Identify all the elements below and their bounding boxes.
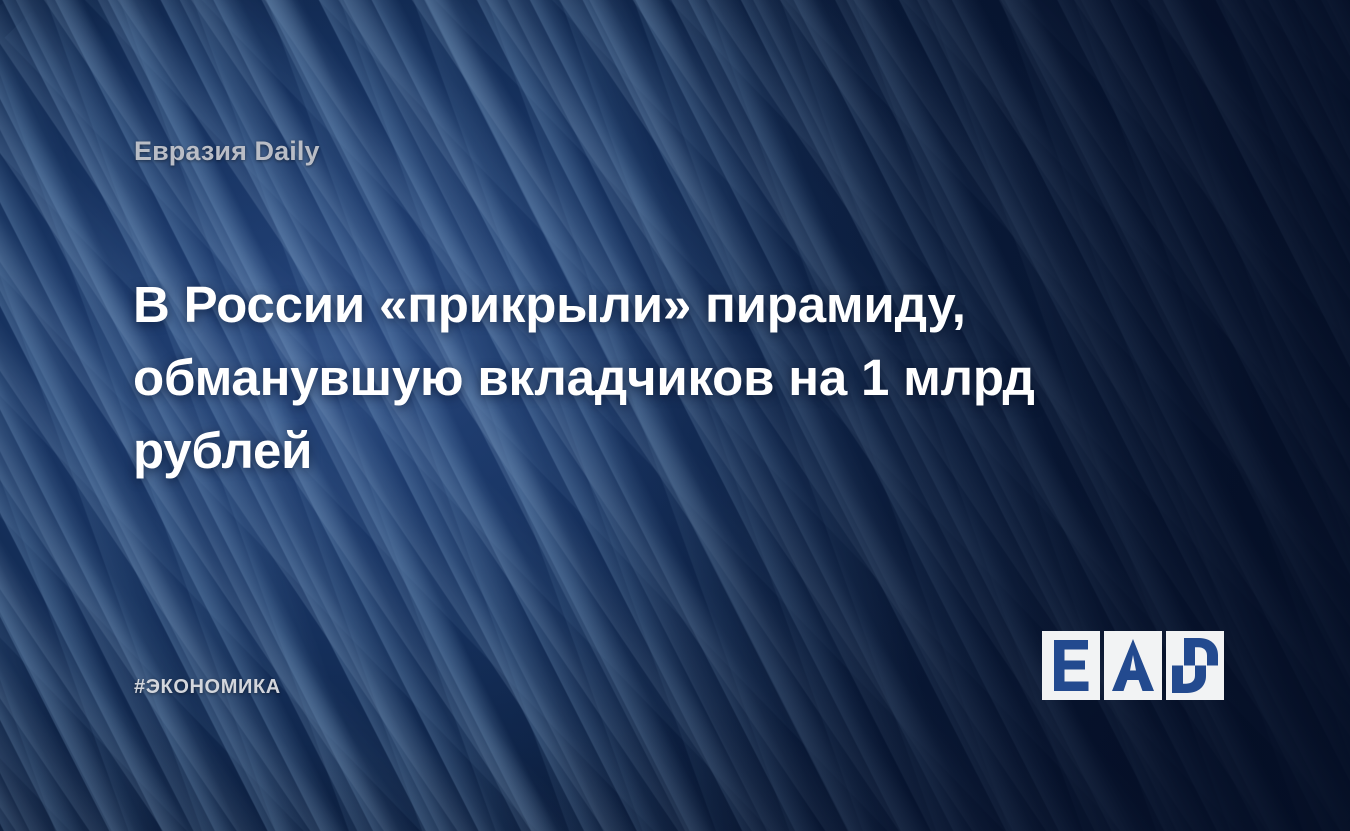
eadaily-logo [1042, 631, 1224, 700]
logo-tile-e [1042, 631, 1100, 700]
logo-split-d-icon [1166, 631, 1224, 700]
card-content: Евразия Daily В России «прикрыли» пирами… [0, 0, 1350, 831]
category-tag: #ЭКОНОМИКА [134, 676, 281, 699]
logo-letter-e-icon [1042, 631, 1100, 700]
logo-letter-a-icon [1104, 631, 1162, 700]
logo-tile-d [1166, 631, 1224, 700]
logo-tile-a [1104, 631, 1162, 700]
page-title: В России «прикрыли» пирамиду, обманувшую… [133, 268, 1123, 487]
brand-name: Евразия Daily [134, 136, 320, 167]
news-share-card: Евразия Daily В России «прикрыли» пирами… [0, 0, 1350, 831]
